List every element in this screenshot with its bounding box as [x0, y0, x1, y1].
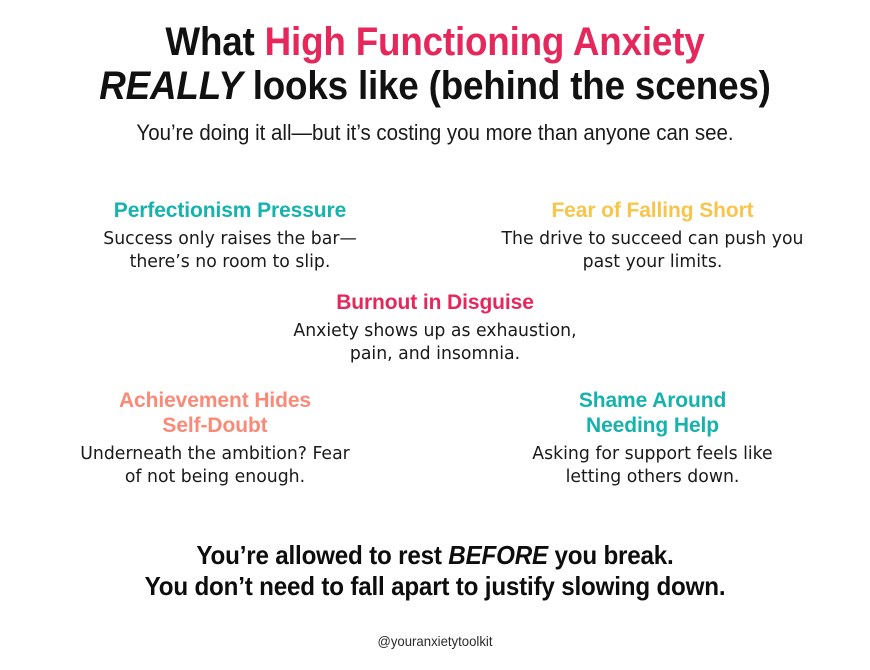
item-heading-line-2: Self-Doubt	[162, 414, 267, 437]
item-achievement-hides-self-doubt: Achievement Hides Self-Doubt Underneath …	[20, 388, 410, 488]
item-body-line-2: letting others down.	[566, 466, 740, 487]
item-body-line-2: past your limits.	[583, 251, 723, 272]
item-body-line-1: The drive to succeed can push you	[501, 228, 803, 249]
item-body-line-1: Success only raises the bar—	[103, 228, 357, 249]
item-perfectionism-pressure: Perfectionism Pressure Success only rais…	[35, 198, 425, 273]
item-burnout-in-disguise: Burnout in Disguise Anxiety shows up as …	[230, 290, 640, 365]
item-body-line-1: Anxiety shows up as exhaustion,	[293, 320, 576, 341]
item-heading-line-2: Needing Help	[586, 414, 719, 437]
title-plain-text: What	[165, 20, 264, 64]
title-line-2-plain: looks like (behind the scenes)	[243, 64, 771, 108]
item-body-line-2: pain, and insomnia.	[350, 343, 520, 364]
footer-line-2: You don’t need to fall apart to justify …	[30, 571, 839, 602]
item-heading: Shame Around Needing Help	[455, 388, 850, 438]
title-line-1: What High Functioning Anxiety	[35, 20, 835, 64]
item-heading-line-1: Shame Around	[579, 389, 726, 412]
infographic-canvas: What High Functioning Anxiety REALLY loo…	[0, 0, 870, 670]
page-subtitle: You’re doing it all—but it’s costing you…	[30, 118, 839, 148]
item-body-line-2: there’s no room to slip.	[130, 251, 331, 272]
item-heading: Burnout in Disguise	[230, 290, 640, 315]
title-accent-text: High Functioning Anxiety	[265, 20, 705, 64]
page-title: What High Functioning Anxiety REALLY loo…	[0, 20, 870, 108]
item-body-line-1: Asking for support feels like	[532, 443, 772, 464]
footer-message: You’re allowed to rest BEFORE you break.…	[0, 540, 870, 602]
item-body: The drive to succeed can push you past y…	[463, 227, 842, 273]
item-body-line-2: of not being enough.	[125, 466, 305, 487]
title-line-2: REALLY looks like (behind the scenes)	[35, 64, 835, 108]
item-body: Asking for support feels like letting ot…	[463, 442, 842, 488]
item-heading: Fear of Falling Short	[455, 198, 850, 223]
item-heading: Achievement Hides Self-Doubt	[20, 388, 410, 438]
footer-line-1: You’re allowed to rest BEFORE you break.	[30, 540, 839, 571]
item-shame-around-needing-help: Shame Around Needing Help Asking for sup…	[455, 388, 850, 488]
item-body: Underneath the ambition? Fear of not bei…	[28, 442, 402, 488]
item-body: Anxiety shows up as exhaustion, pain, an…	[238, 319, 632, 365]
footer-line-1-part-1: You’re allowed to rest	[196, 540, 448, 570]
footer-emphasis-before: BEFORE	[448, 540, 548, 570]
footer-line-1-part-2: you break.	[548, 540, 674, 570]
item-heading: Perfectionism Pressure	[35, 198, 425, 223]
item-heading-line-1: Achievement Hides	[119, 389, 311, 412]
item-fear-of-falling-short: Fear of Falling Short The drive to succe…	[455, 198, 850, 273]
item-body-line-1: Underneath the ambition? Fear	[80, 443, 350, 464]
social-handle: @youranxietytoolkit	[26, 632, 844, 650]
item-body: Success only raises the bar— there’s no …	[43, 227, 417, 273]
title-emphasis-really: REALLY	[99, 64, 242, 108]
